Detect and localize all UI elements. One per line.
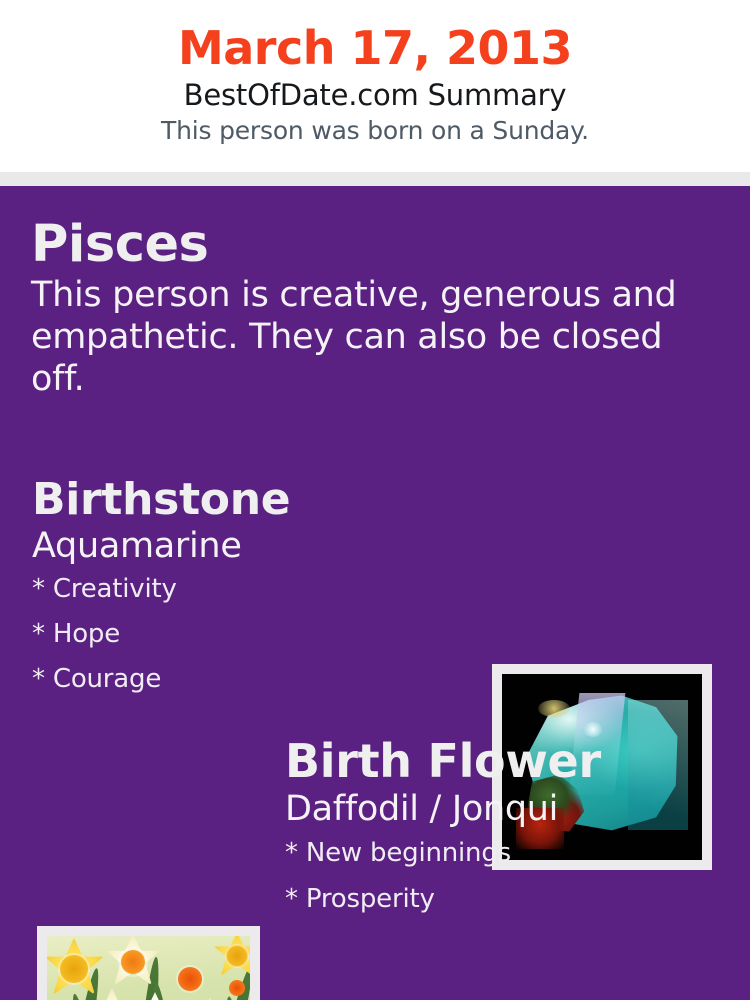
birthflower-name: Daffodil / Jonqui bbox=[285, 788, 715, 830]
birthstone-section: Birthstone Aquamarine * Creativity * Hop… bbox=[32, 475, 472, 702]
birthflower-heading: Birth Flower bbox=[285, 734, 715, 788]
list-item: * Prosperity bbox=[285, 876, 715, 922]
birthflower-image-frame bbox=[37, 926, 260, 1000]
list-item: * Creativity bbox=[32, 567, 472, 612]
list-item: * Hope bbox=[32, 612, 472, 657]
content-panel: Pisces This person is creative, generous… bbox=[0, 186, 750, 1000]
birthstone-trait-list: * Creativity * Hope * Courage bbox=[32, 567, 472, 702]
daffodil-bloom bbox=[105, 936, 161, 990]
birthflower-trait-list: * New beginnings * Prosperity bbox=[285, 830, 715, 922]
birthflower-section: Birth Flower Daffodil / Jonqui * New beg… bbox=[285, 734, 715, 922]
header-divider bbox=[0, 172, 750, 186]
birthstone-heading: Birthstone bbox=[32, 475, 472, 525]
birth-day-note: This person was born on a Sunday. bbox=[0, 114, 750, 148]
zodiac-section: Pisces This person is creative, generous… bbox=[31, 216, 701, 400]
daffodil-bloom bbox=[163, 952, 217, 1000]
header: March 17, 2013 BestOfDate.com Summary Th… bbox=[0, 0, 750, 172]
site-name: BestOfDate.com Summary bbox=[0, 76, 750, 114]
page-title-date: March 17, 2013 bbox=[0, 20, 750, 76]
daffodil-field-image bbox=[47, 936, 250, 1000]
daffodil-bloom bbox=[219, 970, 250, 1000]
birthstone-name: Aquamarine bbox=[32, 525, 472, 567]
list-item: * New beginnings bbox=[285, 830, 715, 876]
list-item: * Courage bbox=[32, 657, 472, 702]
zodiac-description: This person is creative, generous and em… bbox=[31, 274, 701, 400]
zodiac-sign-heading: Pisces bbox=[31, 216, 701, 274]
date-summary-card: March 17, 2013 BestOfDate.com Summary Th… bbox=[0, 0, 750, 1000]
crystal-yellow-patch bbox=[538, 700, 570, 717]
